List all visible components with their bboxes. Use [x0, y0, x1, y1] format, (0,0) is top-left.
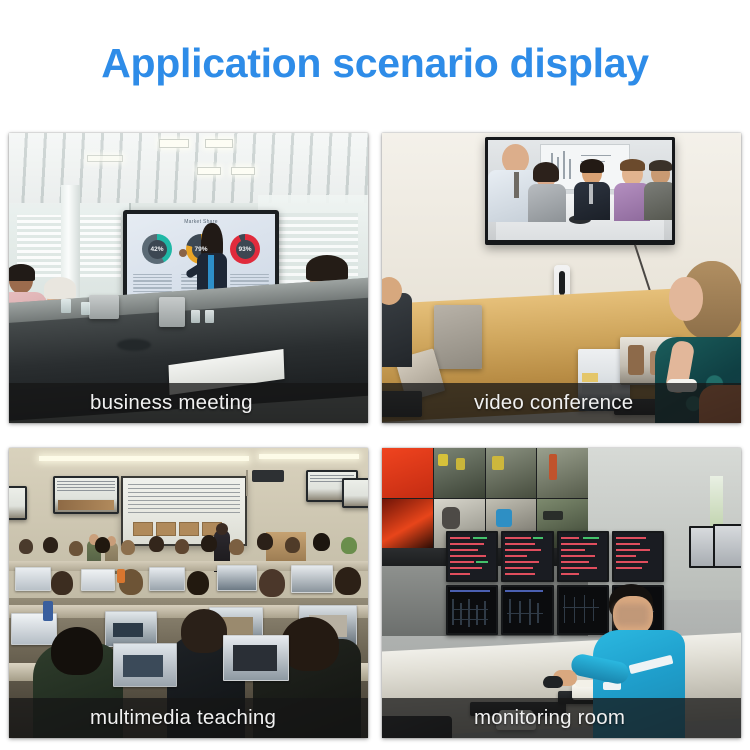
- laptop: [81, 569, 115, 591]
- ceiling-light-icon: [205, 139, 233, 148]
- caption-bar: business meeting: [9, 383, 368, 423]
- console-monitor[interactable]: [446, 585, 498, 636]
- console-monitor[interactable]: [446, 531, 498, 582]
- student-head: [51, 627, 103, 675]
- laptop: [291, 565, 333, 593]
- video-conference-photo: [382, 133, 741, 423]
- donut-chart: 42%: [142, 234, 172, 264]
- side-monitor[interactable]: [713, 524, 741, 568]
- scenario-card-business-meeting[interactable]: Market Share 42% 79% 93%: [9, 133, 368, 423]
- monitor-screen: [55, 478, 117, 512]
- monitor-screen: [715, 526, 741, 566]
- laptop: [434, 305, 482, 369]
- donut-value: 79%: [194, 246, 207, 253]
- monitoring-room-photo: [382, 448, 741, 738]
- monitor-screen: [448, 533, 496, 580]
- donut-chart: 93%: [230, 234, 260, 264]
- wall-monitor: [53, 476, 119, 514]
- monitor-screen: [344, 480, 368, 506]
- student-head: [281, 617, 339, 671]
- console-monitor[interactable]: [501, 585, 553, 636]
- video-wall-tile: [434, 448, 485, 498]
- drink-cup: [43, 601, 53, 621]
- wall-mounted-tv: [485, 137, 675, 245]
- laptop: [159, 297, 185, 327]
- student-head: [285, 537, 300, 553]
- caption-bar: monitoring room: [382, 698, 741, 738]
- strip-light-icon: [259, 454, 359, 459]
- remote-participant: [528, 162, 564, 218]
- console-monitor[interactable]: [501, 531, 553, 582]
- water-glass: [191, 310, 200, 323]
- scenario-card-video-conference[interactable]: video conference: [382, 133, 741, 423]
- business-meeting-photo: Market Share 42% 79% 93%: [9, 133, 368, 423]
- student-head: [51, 571, 73, 595]
- caption-bar: multimedia teaching: [9, 698, 368, 738]
- student-head: [181, 609, 227, 653]
- student-head: [259, 569, 285, 597]
- student-head: [187, 571, 209, 595]
- student-head: [43, 537, 58, 553]
- monitor-screen: [9, 488, 25, 518]
- water-glass: [205, 310, 214, 323]
- application-scenario-page: Application scenario display Market Shar…: [0, 0, 750, 750]
- ceiling-light-icon: [231, 167, 255, 175]
- multimedia-teaching-photo: [9, 448, 368, 738]
- monitor-screen: [503, 533, 551, 580]
- caption-label: monitoring room: [382, 706, 625, 730]
- console-monitor[interactable]: [612, 531, 664, 582]
- ceiling-light-icon: [87, 155, 123, 162]
- laptop: [217, 565, 257, 591]
- student-head: [95, 537, 110, 553]
- computer-mouse[interactable]: [543, 676, 563, 688]
- water-glass: [81, 302, 90, 315]
- page-title: Application scenario display: [0, 42, 750, 85]
- camera-lens-icon: [559, 271, 565, 295]
- projector-mount: [252, 470, 284, 482]
- student-head: [69, 541, 83, 556]
- scenario-grid: Market Share 42% 79% 93%: [9, 133, 741, 738]
- laptop: [113, 643, 177, 687]
- strip-light-icon: [39, 456, 249, 461]
- caption-label: multimedia teaching: [9, 706, 276, 730]
- laptop: [223, 635, 289, 681]
- student-head: [229, 539, 244, 555]
- video-wall-tile: [382, 499, 433, 549]
- ceiling-light-icon: [197, 167, 221, 175]
- video-wall-tile: [537, 448, 588, 498]
- video-wall-tile: [486, 448, 537, 498]
- student-head: [335, 567, 361, 595]
- donut-value: 93%: [238, 246, 251, 253]
- remote-participant: [572, 160, 610, 218]
- caption-label: business meeting: [9, 391, 253, 415]
- student-head: [257, 533, 273, 550]
- donut-value: 42%: [150, 246, 163, 253]
- laptop: [105, 611, 157, 647]
- caption-label: video conference: [382, 391, 633, 415]
- drink-cup: [117, 569, 125, 583]
- scenario-card-monitoring-room[interactable]: monitoring room: [382, 448, 741, 738]
- laptop: [89, 295, 119, 319]
- ceiling-rod: [246, 470, 248, 496]
- monitor-schematic-screen: [503, 587, 551, 634]
- monitor-screen: [559, 533, 607, 580]
- laptop: [149, 567, 185, 591]
- remote-participants-feed: [488, 140, 672, 240]
- student-head: [341, 537, 357, 554]
- desk-object: [117, 339, 151, 351]
- student-head: [201, 535, 217, 552]
- ceiling-light-icon: [159, 139, 189, 148]
- student-head: [149, 536, 164, 552]
- video-wall-tile: [382, 448, 433, 498]
- student-head: [175, 539, 189, 554]
- wall-monitor: [342, 478, 368, 508]
- console-monitor[interactable]: [557, 531, 609, 582]
- student-head: [19, 539, 33, 554]
- wall-monitor: [9, 486, 27, 520]
- caption-bar: video conference: [382, 383, 741, 423]
- monitor-screen: [614, 533, 662, 580]
- scenario-card-multimedia-teaching[interactable]: multimedia teaching: [9, 448, 368, 738]
- student-head: [121, 540, 135, 555]
- monitor-schematic-screen: [448, 587, 496, 634]
- student-head: [313, 533, 330, 551]
- remote-participant: [644, 160, 672, 218]
- water-glass: [61, 299, 71, 313]
- laptop: [15, 567, 51, 591]
